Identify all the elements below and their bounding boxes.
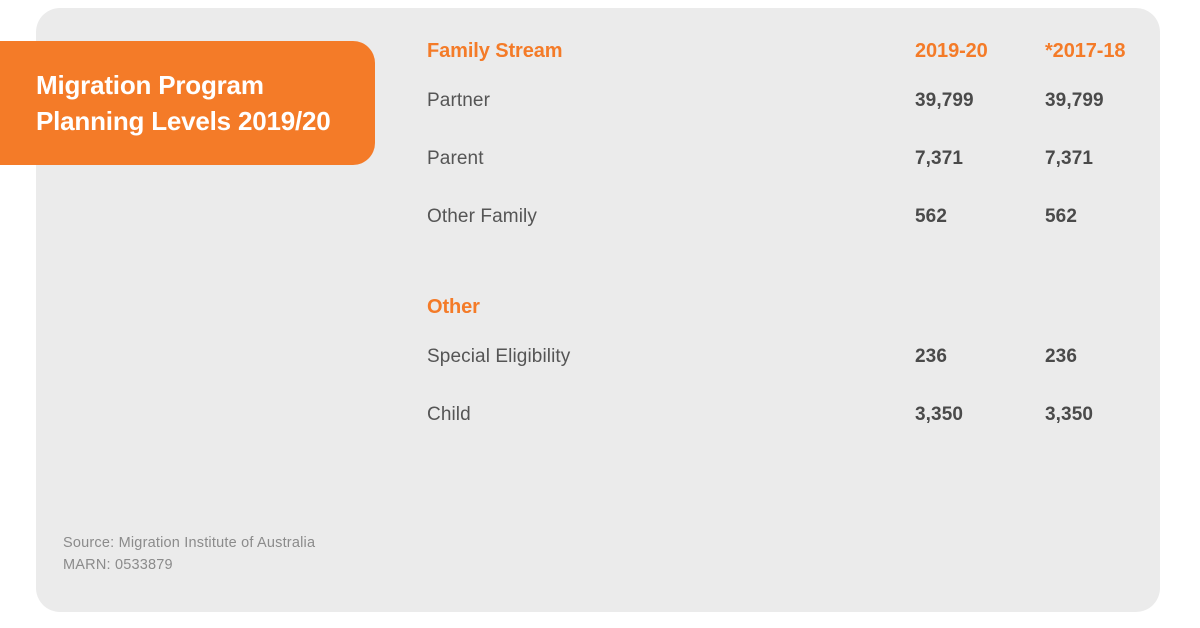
table-row: Special Eligibility 236 236 — [427, 346, 1127, 404]
marn-text: MARN: 0533879 — [63, 554, 315, 576]
row-label: Parent — [427, 148, 915, 170]
row-value-2017-18: 236 — [1045, 346, 1175, 368]
row-value-2017-18: 562 — [1045, 206, 1175, 228]
column-header-2017-18: *2017-18 — [1045, 40, 1175, 63]
row-value-2019-20: 7,371 — [915, 148, 1045, 170]
title-banner: Migration Program Planning Levels 2019/2… — [0, 41, 375, 165]
row-label: Other Family — [427, 206, 915, 228]
table-row: Partner 39,799 39,799 — [427, 90, 1127, 148]
section-header-other: Other — [427, 296, 1127, 346]
row-value-2019-20: 3,350 — [915, 404, 1045, 426]
table-row: Other Family 562 562 — [427, 206, 1127, 264]
row-label: Partner — [427, 90, 915, 112]
row-value-2017-18: 39,799 — [1045, 90, 1175, 112]
row-value-2017-18: 7,371 — [1045, 148, 1175, 170]
page-title-line-1: Migration Program — [36, 67, 343, 103]
footer: Source: Migration Institute of Australia… — [63, 532, 315, 576]
section-title-other: Other — [427, 296, 915, 319]
section-header-family-stream: Family Stream 2019-20 *2017-18 — [427, 40, 1127, 90]
infographic-root: Migration Program Planning Levels 2019/2… — [0, 0, 1200, 628]
row-label: Special Eligibility — [427, 346, 915, 368]
row-label: Child — [427, 404, 915, 426]
row-value-2019-20: 236 — [915, 346, 1045, 368]
section-spacer — [427, 264, 1127, 296]
row-value-2017-18: 3,350 — [1045, 404, 1175, 426]
source-text: Source: Migration Institute of Australia — [63, 532, 315, 554]
column-header-2019-20: 2019-20 — [915, 40, 1045, 63]
data-table: Family Stream 2019-20 *2017-18 Partner 3… — [427, 40, 1127, 462]
table-row: Child 3,350 3,350 — [427, 404, 1127, 462]
row-value-2019-20: 39,799 — [915, 90, 1045, 112]
table-row: Parent 7,371 7,371 — [427, 148, 1127, 206]
row-value-2019-20: 562 — [915, 206, 1045, 228]
page-title-line-2: Planning Levels 2019/20 — [36, 103, 343, 139]
section-title-family-stream: Family Stream — [427, 40, 915, 63]
